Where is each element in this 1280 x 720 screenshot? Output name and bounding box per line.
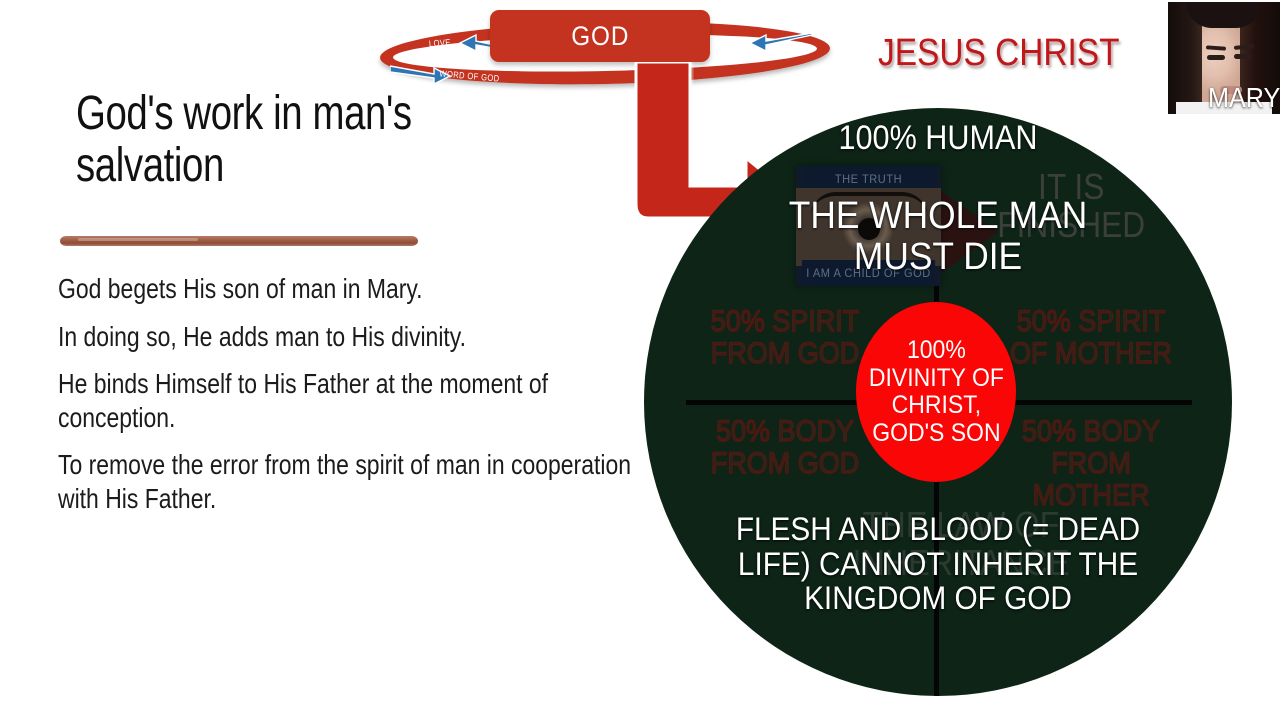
body-point: God begets His son of man in Mary. xyxy=(58,272,657,306)
jesus-christ-heading: JESUS CHRIST xyxy=(878,32,1120,75)
quadrant-spirit-of-mother: 50% SPIRIT OF MOTHER xyxy=(997,306,1186,370)
god-banner-label: GOD xyxy=(571,21,629,52)
quadrant-body-from-mother: 50% BODY FROM MOTHER xyxy=(997,416,1186,511)
label-100-percent-human: 100% HUMAN xyxy=(758,120,1118,157)
divinity-center-circle: 100% DIVINITY OF CHRIST, GOD'S SON xyxy=(856,302,1016,482)
label-whole-man-must-die: THE WHOLE MAN MUST DIE xyxy=(696,196,1180,278)
ring-label-fruit: FRUIT xyxy=(720,35,745,47)
god-banner: GOD xyxy=(490,10,710,62)
label-flesh-and-blood: FLESH AND BLOOD (= DEAD LIFE) CANNOT INH… xyxy=(678,512,1199,616)
quadrant-body-from-god: 50% BODY FROM GOD xyxy=(691,416,880,480)
divinity-center-label: 100% DIVINITY OF CHRIST, GOD'S SON xyxy=(868,337,1003,447)
dark-circle-body: IT IS FINISHED THE LAW OF INHERITANCE 50… xyxy=(644,108,1232,696)
eye-right xyxy=(1234,54,1252,59)
eye-left xyxy=(1207,55,1225,60)
quadrant-spirit-from-god: 50% SPIRIT FROM GOD xyxy=(691,306,880,370)
eyebrow-left xyxy=(1206,45,1226,50)
body-point: He binds Himself to His Father at the mo… xyxy=(58,367,657,434)
body-points-list: God begets His son of man in Mary. In do… xyxy=(58,272,658,530)
slide-canvas: God's work in man's salvation God begets… xyxy=(0,0,1280,720)
fruit-arrow-icon xyxy=(746,32,814,54)
ring-label-love: LOVE xyxy=(429,37,451,48)
page-title: God's work in man's salvation xyxy=(76,88,492,192)
body-point: In doing so, He adds man to His divinity… xyxy=(58,320,657,354)
divider-right xyxy=(992,400,1192,405)
jesus-christ-circle-diagram: IT IS FINISHED THE LAW OF INHERITANCE 50… xyxy=(644,108,1244,708)
title-divider xyxy=(60,236,418,246)
body-point: To remove the error from the spirit of m… xyxy=(58,448,657,515)
